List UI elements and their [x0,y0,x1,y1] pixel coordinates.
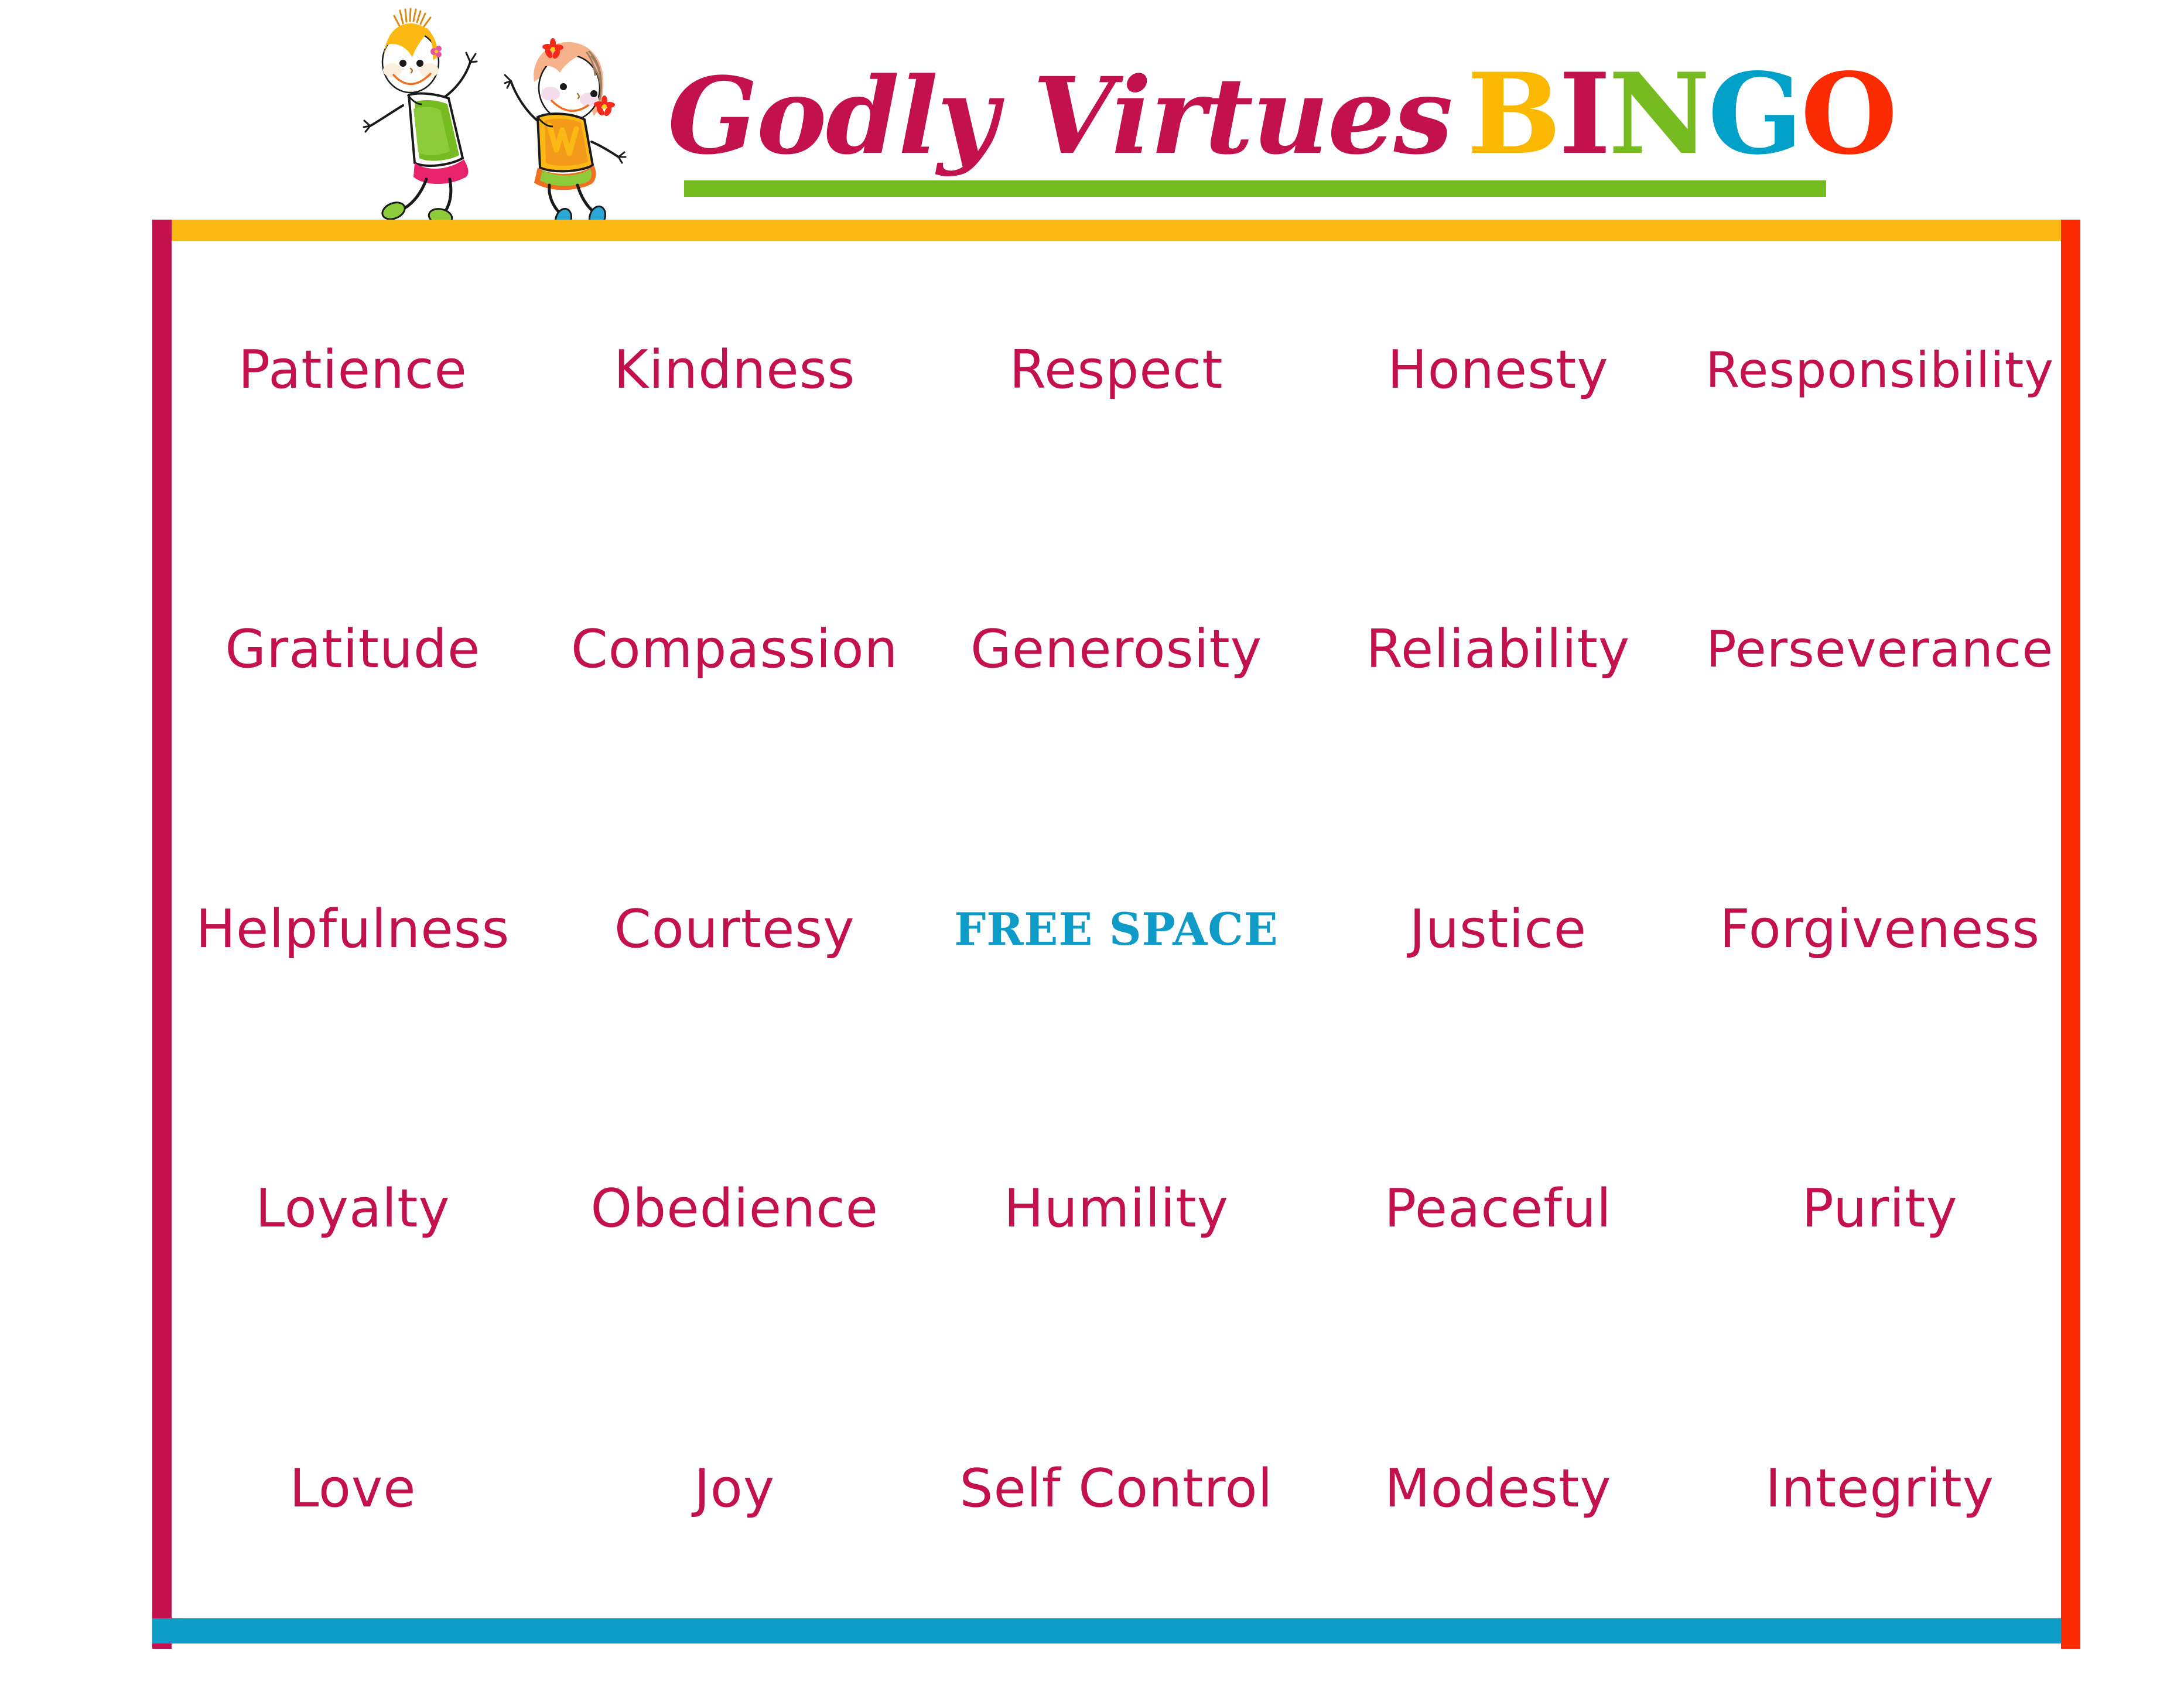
jumping-kids-illustration [351,6,644,223]
bingo-cell-label: Forgiveness [1720,902,2040,958]
bingo-cell-label: Humility [1004,1181,1229,1237]
bingo-cell[interactable]: Respect [935,241,1298,500]
bingo-cell-label: Generosity [970,622,1262,678]
bingo-cell-label: Loyalty [255,1181,450,1237]
bingo-cell-label: Patience [238,343,467,398]
bingo-cell-free-space[interactable]: FREE SPACE [935,800,1298,1059]
bingo-cell[interactable]: Generosity [935,520,1298,779]
bingo-cell[interactable]: Gratitude [172,520,534,779]
bingo-letter-i: I [1558,49,1608,179]
bingo-cell-label: Kindness [614,343,855,398]
bingo-letter-o: O [1800,49,1895,179]
bingo-letter-b: B [1467,49,1559,179]
title-bingo-text: BINGO [1467,59,1895,170]
bingo-cell-label: Courtesy [614,902,855,958]
bingo-cell[interactable]: Honesty [1317,241,1679,500]
bingo-cell[interactable]: Kindness [553,241,916,500]
bingo-cell[interactable]: Helpfulness [172,800,534,1059]
bingo-cell[interactable]: Love [172,1359,534,1618]
bingo-cell-label: Perseverance [1706,623,2053,676]
bingo-cell[interactable]: Purity [1698,1079,2061,1338]
title-underline-bar [684,180,1826,197]
bingo-cell[interactable]: Obedience [553,1079,916,1338]
bingo-cell-label: Honesty [1387,343,1609,398]
bingo-cell[interactable]: Justice [1317,800,1679,1059]
bingo-cell-label: Reliability [1366,622,1630,678]
bingo-cell-label: Peaceful [1385,1181,1612,1237]
bingo-cell-label: Modesty [1385,1461,1612,1517]
bingo-cell-label: Compassion [571,622,898,678]
bingo-cell-label: Purity [1802,1181,1957,1237]
bingo-cell[interactable]: Peaceful [1317,1079,1679,1338]
bingo-cell[interactable]: Modesty [1317,1359,1679,1618]
bingo-cell[interactable]: Courtesy [553,800,916,1059]
bingo-cell[interactable]: Joy [553,1359,916,1618]
free-space-label: FREE SPACE [954,906,1278,953]
title-script-text: Godly Virtues [668,64,1452,169]
bingo-cell[interactable]: Self Control [935,1359,1298,1618]
card-border-right [2061,220,2080,1649]
bingo-card: PatienceKindnessRespectHonestyResponsibi… [152,220,2080,1649]
bingo-cell[interactable]: Forgiveness [1698,800,2061,1059]
card-border-left [152,220,172,1649]
bingo-cell-label: Gratitude [225,622,480,678]
bingo-cell-label: Love [289,1461,416,1517]
bingo-cell[interactable]: Loyalty [172,1079,534,1338]
bingo-cell[interactable]: Compassion [553,520,916,779]
bingo-cell-label: Respect [1009,343,1223,398]
bingo-cell[interactable]: Humility [935,1079,1298,1338]
bingo-cell-label: Self Control [959,1461,1273,1517]
page-header: Godly Virtues BINGO [0,0,2184,211]
bingo-cell[interactable]: Reliability [1317,520,1679,779]
bingo-cell-label: Integrity [1765,1461,1994,1517]
bingo-cell[interactable]: Patience [172,241,534,500]
bingo-letter-g: G [1708,49,1800,179]
bingo-cell[interactable]: Responsibility [1698,241,2061,500]
bingo-cell[interactable]: Perseverance [1698,520,2061,779]
bingo-cell-label: Obedience [590,1181,879,1237]
bingo-cell-label: Helpfulness [196,902,510,958]
bingo-cell[interactable]: Integrity [1698,1359,2061,1618]
page-title: Godly Virtues BINGO [668,59,1895,193]
bingo-grid: PatienceKindnessRespectHonestyResponsibi… [172,241,2061,1618]
bingo-letter-n: N [1608,49,1708,179]
bingo-cell-label: Justice [1409,902,1587,958]
bingo-cell-label: Responsibility [1705,344,2054,396]
bingo-cell-label: Joy [694,1461,775,1517]
card-border-top [152,220,2080,241]
card-border-bottom [152,1618,2061,1643]
